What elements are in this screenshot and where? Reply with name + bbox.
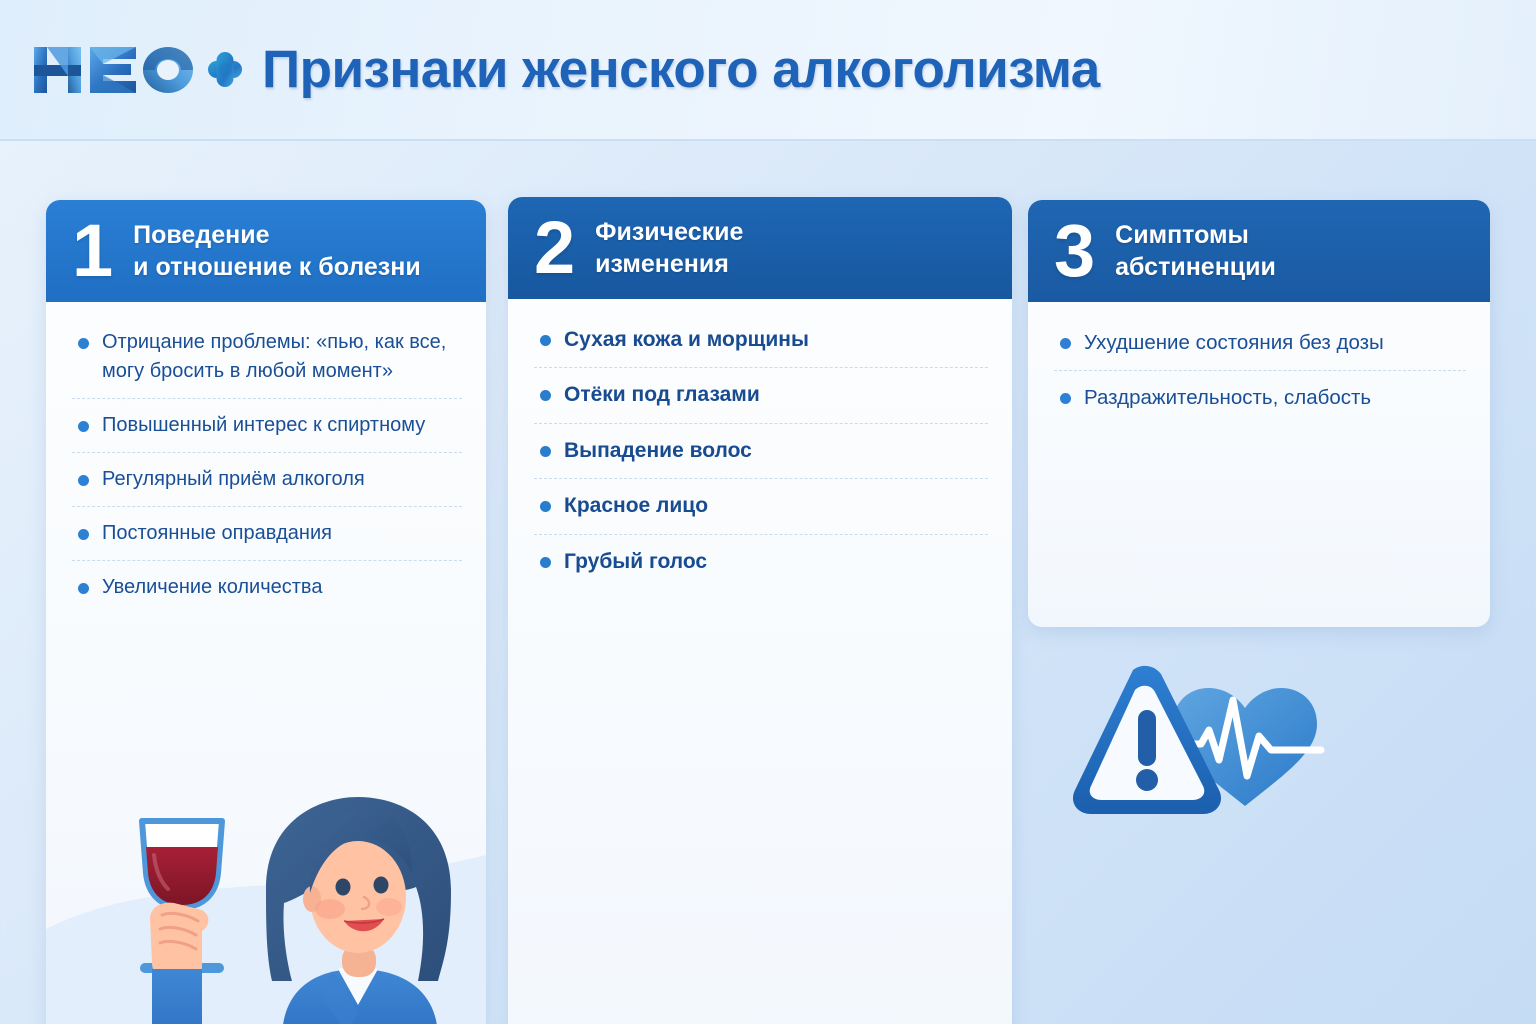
card-2-number: 2: [534, 219, 575, 277]
page-header: Признаки женского алкоголизма: [0, 0, 1536, 141]
logo-letter-e: [90, 47, 136, 93]
card-1-header: 1 Поведение и отношение к болезни: [46, 200, 486, 302]
warning-triangle-icon: [1073, 666, 1221, 814]
card-1-title-line1: Поведение: [133, 221, 269, 249]
card-2-list: Сухая кожа и морщины Отёки под глазами В…: [534, 325, 988, 589]
card-1-background-wave: [46, 809, 486, 1024]
list-item: Повышенный интерес к спиртному: [72, 411, 462, 453]
warning-and-heartbeat-illustration: [1055, 656, 1335, 821]
card-3-body: Ухудшение состояния без дозы Раздражител…: [1028, 302, 1490, 424]
list-item: Красное лицо: [534, 491, 988, 534]
card-3-header: 3 Симптомы абстиненции: [1028, 200, 1490, 302]
heartbeat-icon: [1167, 688, 1321, 806]
card-1-list: Отрицание проблемы: «пью, как все, могу …: [72, 328, 462, 614]
card-2-body: Сухая кожа и морщины Отёки под глазами В…: [508, 299, 1012, 589]
logo-plus-icon: [208, 52, 242, 87]
list-item: Раздражительность, слабость: [1054, 383, 1466, 425]
list-item: Сухая кожа и морщины: [534, 325, 988, 368]
list-item: Ухудшение состояния без дозы: [1054, 328, 1466, 371]
card-3-number: 3: [1054, 222, 1095, 280]
list-item: Увеличение количества: [72, 573, 462, 614]
card-1-number: 1: [72, 222, 113, 280]
list-item: Грубый голос: [534, 547, 988, 589]
logo-letter-o: [143, 47, 193, 93]
card-3-title-line1: Симптомы: [1115, 221, 1249, 249]
card-1-title-line2: и отношение к болезни: [133, 253, 421, 281]
card-3-list: Ухудшение состояния без дозы Раздражител…: [1054, 328, 1466, 424]
card-behaviour: 1 Поведение и отношение к болезни Отрица…: [46, 200, 486, 1024]
card-3-title-line2: абстиненции: [1115, 253, 1276, 281]
list-item: Постоянные оправдания: [72, 519, 462, 561]
list-item: Выпадение волос: [534, 436, 988, 479]
logo-letter-n: [34, 47, 81, 93]
list-item: Отрицание проблемы: «пью, как все, могу …: [72, 328, 462, 399]
list-item: Отёки под глазами: [534, 380, 988, 423]
card-2-header: 2 Физические изменения: [508, 197, 1012, 299]
card-3-title: Симптомы абстиненции: [1115, 219, 1276, 283]
cards-board: 1 Поведение и отношение к болезни Отрица…: [0, 141, 1536, 1024]
card-withdrawal-symptoms: 3 Симптомы абстиненции Ухудшение состоян…: [1028, 200, 1490, 627]
page-title: Признаки женского алкоголизма: [262, 39, 1100, 100]
card-2-title: Физические изменения: [595, 216, 743, 280]
list-item: Регулярный приём алкоголя: [72, 465, 462, 507]
card-2-title-line1: Физические: [595, 218, 743, 246]
card-2-title-line2: изменения: [595, 250, 729, 278]
card-1-body: Отрицание проблемы: «пью, как все, могу …: [46, 302, 486, 614]
neo-plus-logo[interactable]: [32, 39, 244, 101]
card-physical-changes: 2 Физические изменения Сухая кожа и морщ…: [508, 197, 1012, 1024]
card-1-title: Поведение и отношение к болезни: [133, 219, 421, 283]
